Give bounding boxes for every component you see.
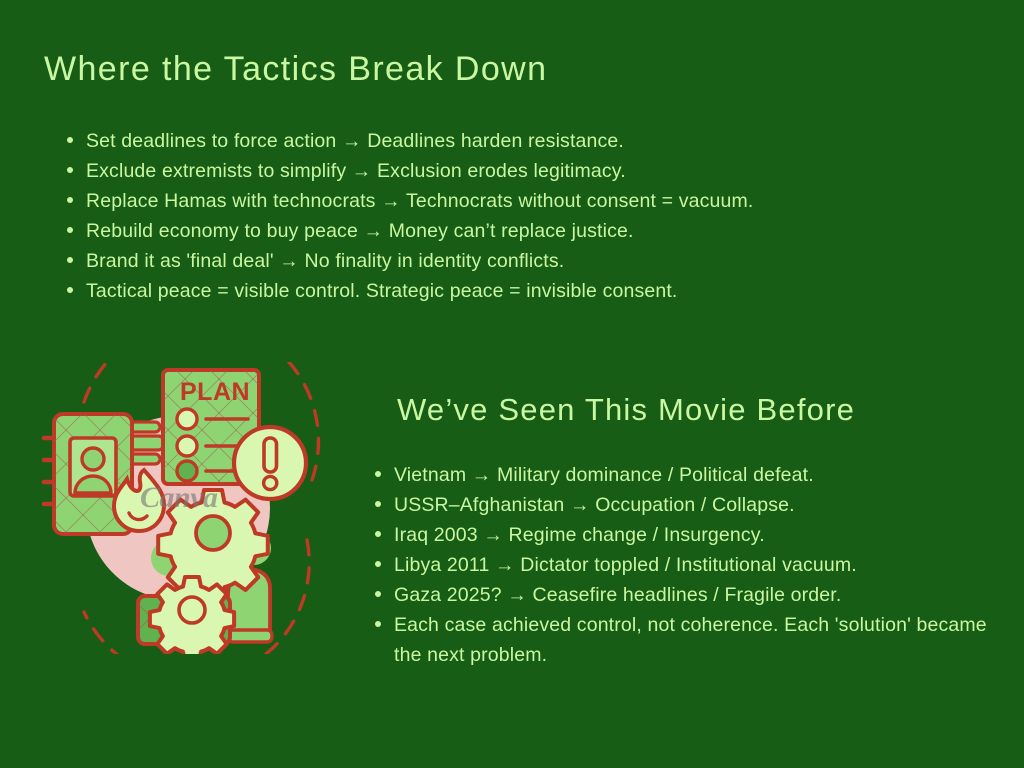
planning-breakdown-illustration: PLAN [32, 362, 324, 654]
bullet-icon [375, 471, 381, 477]
gear-large-icon [158, 490, 268, 600]
slide-canvas: Where the Tactics Break Down Set deadlin… [0, 0, 1024, 768]
list-item: Each case achieved control, not coherenc… [372, 610, 997, 670]
list-item: Rebuild economy to buy peace → Money can… [64, 216, 894, 246]
checkbox-circle-icon [177, 409, 197, 429]
checkbox-circle-icon [177, 436, 197, 456]
bullet-icon [375, 591, 381, 597]
page-title: Where the Tactics Break Down [44, 50, 547, 89]
bullet-icon [375, 501, 381, 507]
list-item: Replace Hamas with technocrats → Technoc… [64, 186, 894, 216]
illustration-svg: PLAN [32, 362, 324, 654]
list-item-text: Iraq 2003 → Regime change / Insurgency. [394, 524, 765, 546]
bullet-icon [67, 167, 73, 173]
list-item: USSR–Afghanistan → Occupation / Collapse… [372, 490, 997, 520]
section-title-history: We’ve Seen This Movie Before [397, 392, 855, 428]
list-item-text: Brand it as 'final deal' → No finality i… [86, 250, 564, 272]
list-item: Tactical peace = visible control. Strate… [64, 276, 894, 306]
history-bullet-list: Vietnam → Military dominance / Political… [372, 460, 997, 670]
list-item-text: Gaza 2025? → Ceasefire headlines / Fragi… [394, 584, 841, 606]
list-item-text: Rebuild economy to buy peace → Money can… [86, 220, 634, 242]
checkbox-circle-filled-icon [177, 461, 197, 481]
bullet-icon [67, 137, 73, 143]
list-item-text: Exclude extremists to simplify → Exclusi… [86, 160, 626, 182]
bullet-icon [67, 287, 73, 293]
list-item: Exclude extremists to simplify → Exclusi… [64, 156, 894, 186]
list-item-text: Libya 2011 → Dictator toppled / Institut… [394, 554, 857, 576]
list-item: Gaza 2025? → Ceasefire headlines / Fragi… [372, 580, 997, 610]
list-item: Libya 2011 → Dictator toppled / Institut… [372, 550, 997, 580]
bullet-icon [375, 621, 381, 627]
gear-small-icon [150, 577, 234, 654]
list-item-text: USSR–Afghanistan → Occupation / Collapse… [394, 494, 795, 516]
list-item-text: Each case achieved control, not coherenc… [394, 614, 987, 666]
list-item-text: Vietnam → Military dominance / Political… [394, 464, 814, 486]
bullet-icon [67, 197, 73, 203]
bullet-icon [375, 531, 381, 537]
list-item-text: Set deadlines to force action → Deadline… [86, 130, 624, 152]
plan-label: PLAN [180, 378, 250, 406]
bullet-icon [67, 227, 73, 233]
bullet-icon [67, 257, 73, 263]
list-item: Brand it as 'final deal' → No finality i… [64, 246, 894, 276]
list-item-text: Replace Hamas with technocrats → Technoc… [86, 190, 754, 212]
list-item: Set deadlines to force action → Deadline… [64, 126, 894, 156]
tactics-bullet-list: Set deadlines to force action → Deadline… [64, 126, 894, 306]
bullet-icon [375, 561, 381, 567]
warning-exclamation-icon [234, 427, 306, 499]
list-item: Iraq 2003 → Regime change / Insurgency. [372, 520, 997, 550]
list-item-text: Tactical peace = visible control. Strate… [86, 280, 677, 302]
list-item: Vietnam → Military dominance / Political… [372, 460, 997, 490]
